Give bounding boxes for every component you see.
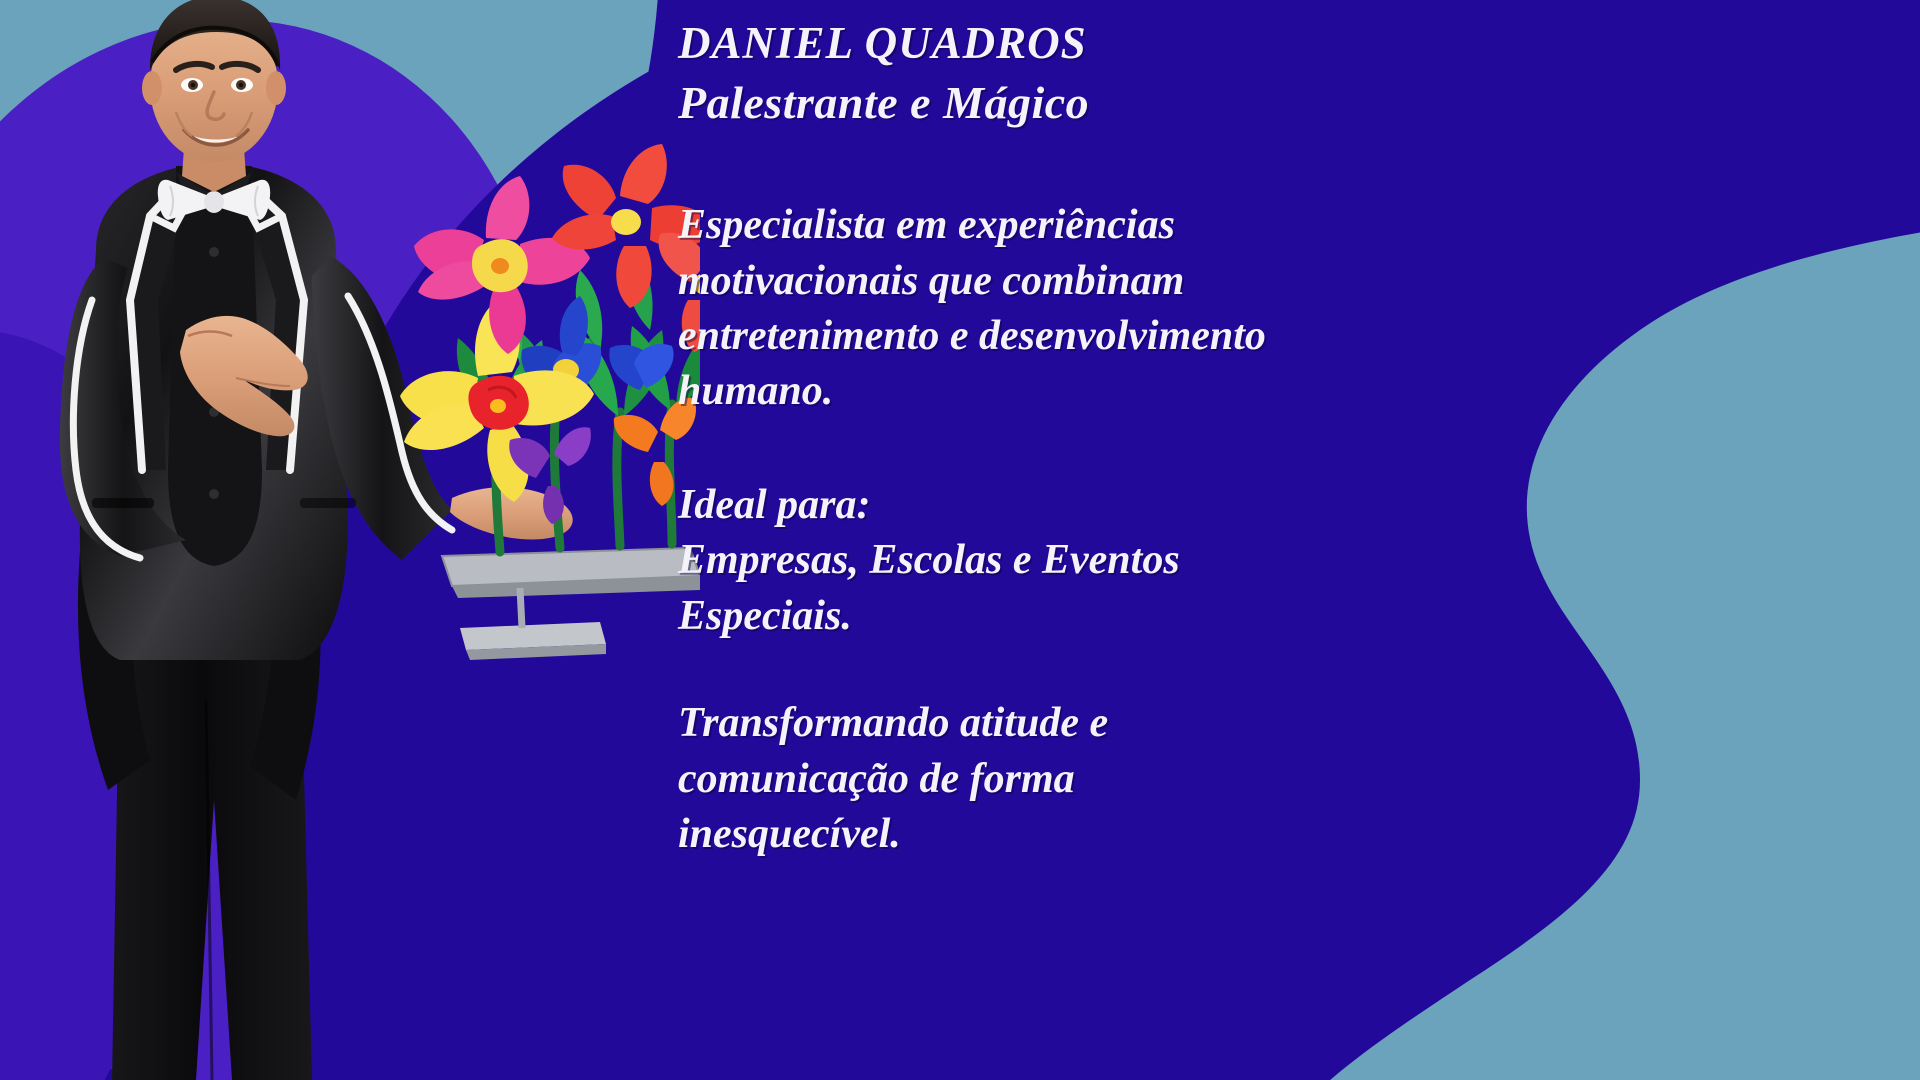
specialty-block: Especialista em experiências motivaciona… [678,198,1418,420]
specialty-line-1: Especialista em experiências [678,198,1418,253]
ideal-for-line-2: Especiais. [678,589,1418,644]
closing-line-1: Transformando atitude e [678,696,1418,751]
ideal-for-block: Ideal para: Empresas, Escolas e Eventos … [678,478,1418,644]
closing-block: Transformando atitude e comunicação de f… [678,696,1418,862]
closing-line-2: comunicação de forma [678,752,1418,807]
specialty-line-2: motivacionais que combinam [678,254,1418,309]
text-content-column: DANIEL QUADROS Palestrante e Mágico Espe… [678,0,1418,1080]
specialty-line-4: humano. [678,364,1418,419]
ideal-for-label: Ideal para: [678,478,1418,533]
promotional-poster: DANIEL QUADROS Palestrante e Mágico Espe… [0,0,1920,1080]
closing-line-3: inesquecível. [678,807,1418,862]
flower-bouquet [400,144,700,660]
page-title: DANIEL QUADROS [678,14,1418,73]
ideal-for-line-1: Empresas, Escolas e Eventos [678,533,1418,588]
specialty-line-3: entretenimento e desenvolvimento [678,309,1418,364]
subtitle-role: Palestrante e Mágico [678,73,1418,134]
magician-photo [0,0,700,1080]
